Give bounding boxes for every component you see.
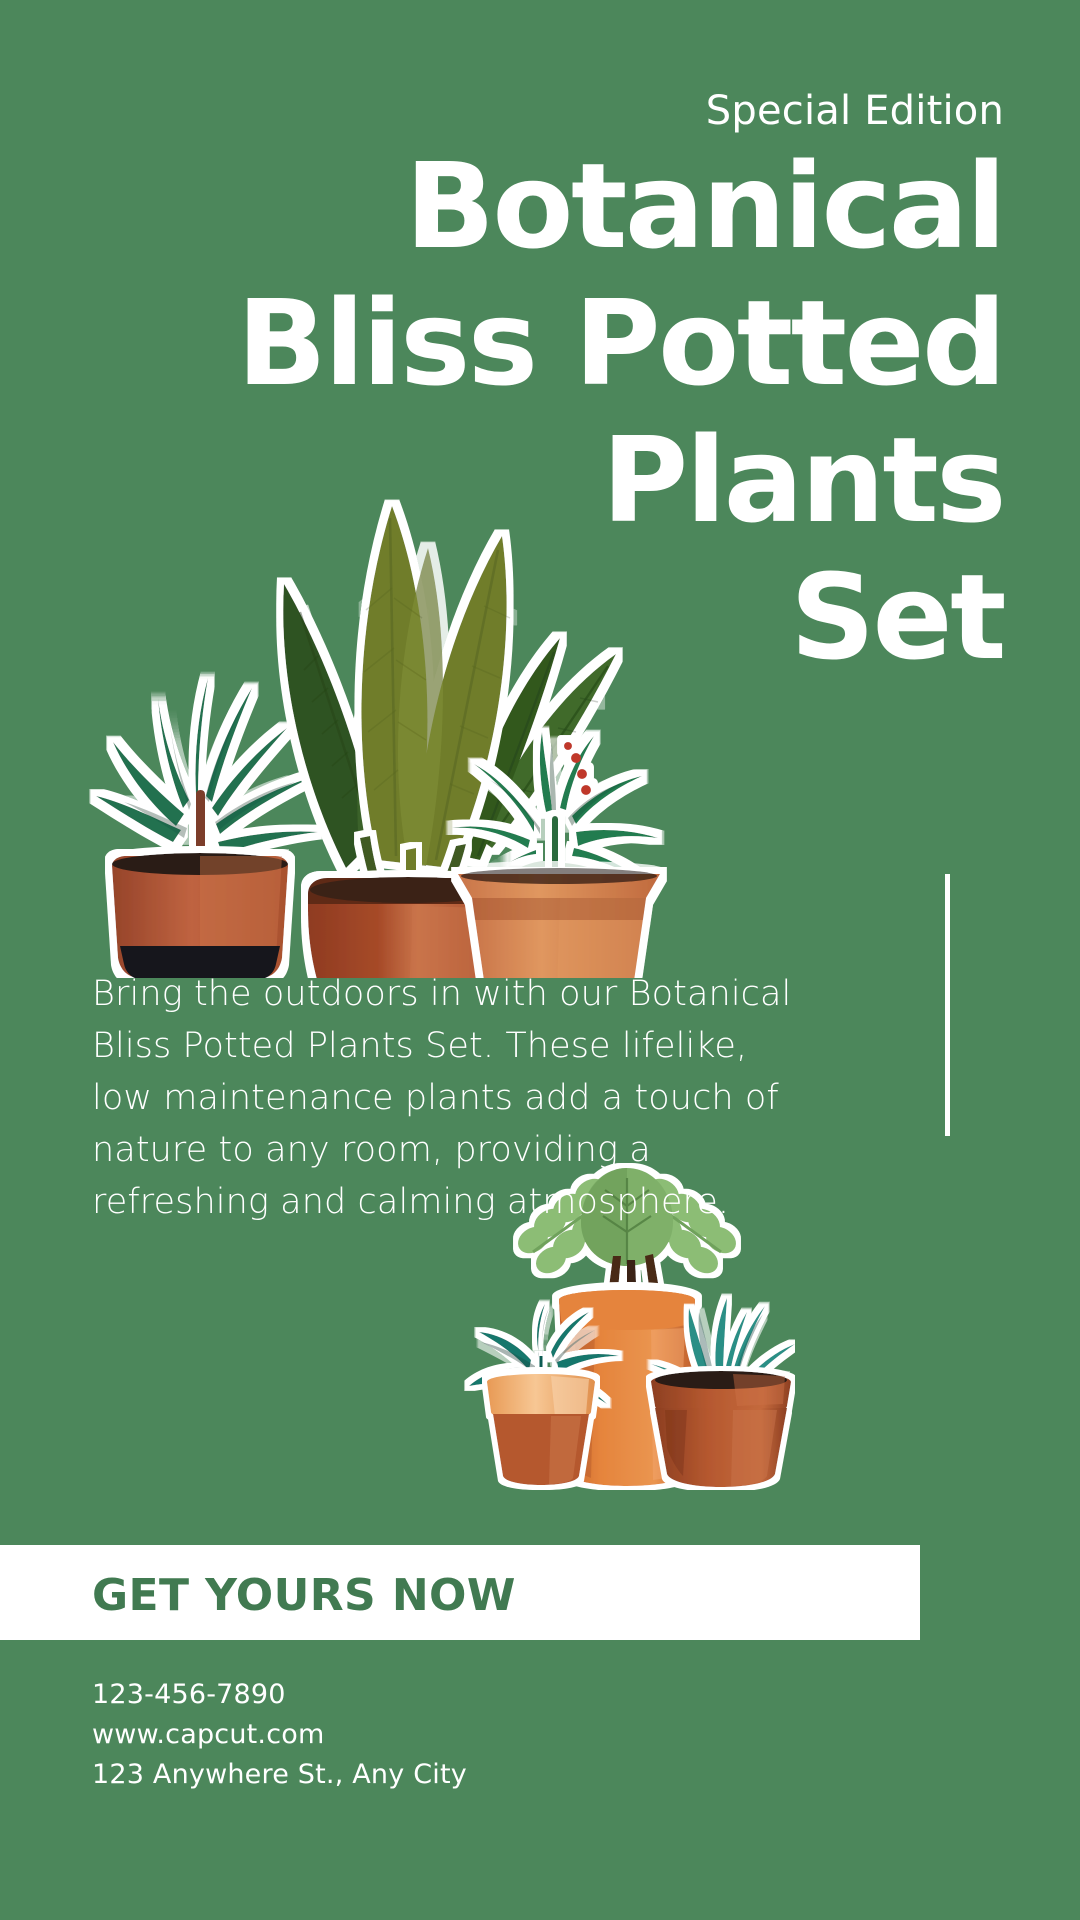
title-line-1: Botanical <box>64 138 1004 275</box>
poster-canvas: Special Edition Botanical Bliss Potted P… <box>0 0 1080 1920</box>
get-yours-now-button[interactable]: GET YOURS NOW <box>92 1570 516 1621</box>
three-potted-plants-illustration <box>60 398 680 978</box>
eyebrow-special-edition: Special Edition <box>706 88 1004 134</box>
contact-info: 123-456-7890 www.capcut.com 123 Anywhere… <box>92 1675 467 1795</box>
title-line-2: Bliss Potted <box>64 275 1004 412</box>
contact-phone[interactable]: 123-456-7890 <box>92 1675 467 1715</box>
contact-address: 123 Anywhere St., Any City <box>92 1755 467 1795</box>
palm-fern-pot <box>112 853 288 978</box>
small-tan-pot <box>487 1372 595 1485</box>
spider-plant-pot <box>458 868 660 978</box>
description-paragraph: Bring the outdoors in with our Botanical… <box>92 968 792 1228</box>
contact-website[interactable]: www.capcut.com <box>92 1715 467 1755</box>
vertical-divider <box>945 874 950 1136</box>
brown-terracotta-pot <box>651 1371 791 1487</box>
